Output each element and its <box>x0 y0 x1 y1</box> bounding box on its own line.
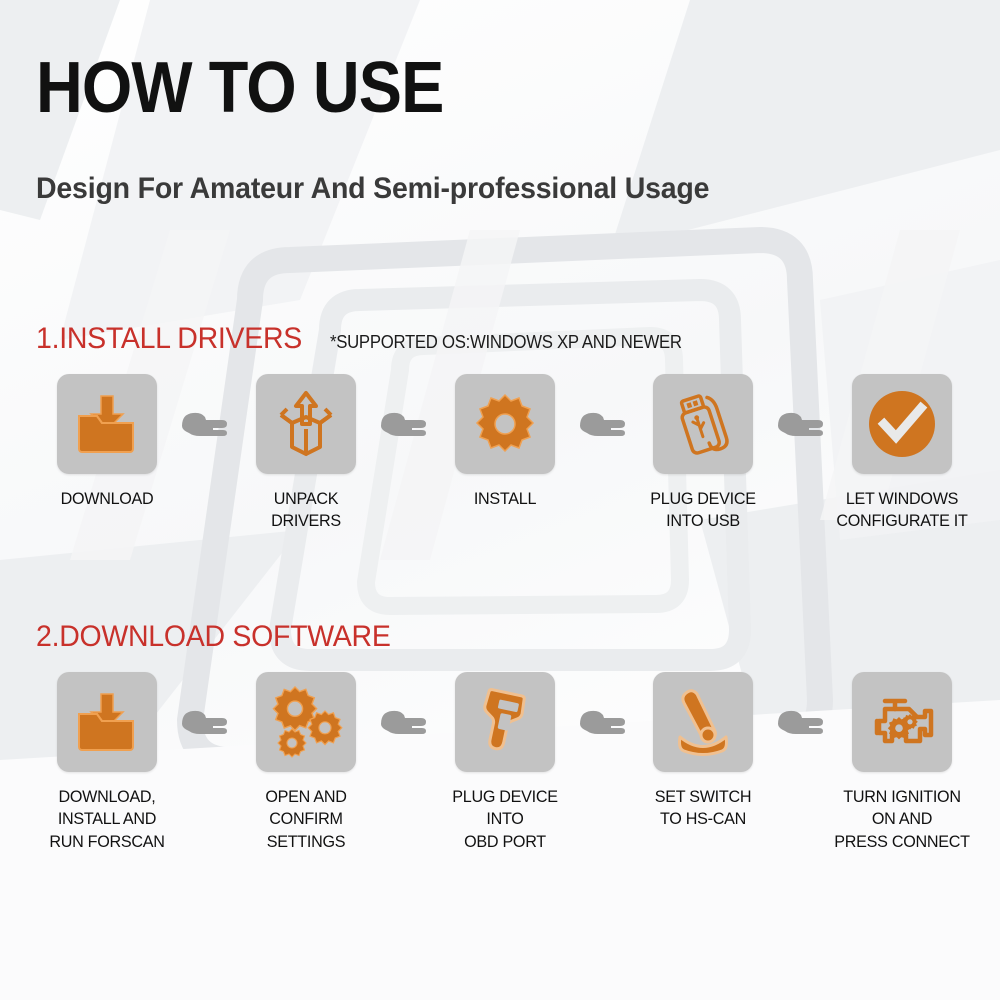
engine-check-icon <box>861 681 943 763</box>
three-gears-icon <box>265 681 347 763</box>
section-1-title: 1.INSTALL DRIVERS <box>36 322 302 356</box>
step-plug-device-usb[interactable]: PLUG DEVICE INTO USB <box>608 374 798 533</box>
gear-icon <box>474 393 536 455</box>
label-set-switch-hscan: SET SWITCH TO HS-CAN <box>613 786 794 831</box>
tile-obd[interactable] <box>455 672 555 772</box>
tile-switch[interactable] <box>653 672 753 772</box>
label-line: PLUG DEVICE <box>613 488 794 510</box>
tile-download[interactable] <box>57 374 157 474</box>
step-plug-device-obd[interactable]: PLUG DEVICE INTO OBD PORT <box>410 672 600 853</box>
label-download: DOWNLOAD <box>17 488 198 510</box>
download-folder-icon <box>71 686 143 758</box>
label-turn-ignition-connect: TURN IGNITION ON AND PRESS CONNECT <box>812 786 993 853</box>
label-line: LET WINDOWS <box>812 488 993 510</box>
label-line: SETTINGS <box>216 831 397 853</box>
label-open-confirm-settings: OPEN AND CONFIRM SETTINGS <box>216 786 397 853</box>
label-line: DRIVERS <box>216 510 397 532</box>
label-unpack-drivers: UNPACK DRIVERS <box>216 488 397 533</box>
label-line: PRESS CONNECT <box>812 831 993 853</box>
section-2-steps: DOWNLOAD, INSTALL AND RUN FORSCAN <box>0 672 1000 872</box>
section-1-steps: DOWNLOAD <box>0 374 1000 574</box>
label-line: INTO <box>415 808 596 830</box>
section-2-heading-row: 2.DOWNLOAD SOFTWARE <box>0 620 1000 664</box>
lever-switch-icon <box>664 683 742 761</box>
tile-download-forscan[interactable] <box>57 672 157 772</box>
step-set-switch-hscan[interactable]: SET SWITCH TO HS-CAN <box>608 672 798 831</box>
tile-unpack[interactable] <box>256 374 356 474</box>
tile-settings[interactable] <box>256 672 356 772</box>
checkmark-circle-icon <box>864 386 940 462</box>
tile-engine[interactable] <box>852 672 952 772</box>
step-open-confirm-settings[interactable]: OPEN AND CONFIRM SETTINGS <box>211 672 401 853</box>
download-folder-icon <box>71 388 143 460</box>
step-unpack-drivers[interactable]: UNPACK DRIVERS <box>211 374 401 533</box>
label-let-windows-configurate: LET WINDOWS CONFIGURATE IT <box>812 488 993 533</box>
usb-drive-icon <box>665 386 741 462</box>
tile-usb[interactable] <box>653 374 753 474</box>
step-install[interactable]: INSTALL <box>410 374 600 510</box>
section-1-heading-row: 1.INSTALL DRIVERS *SUPPORTED OS:WINDOWS … <box>0 322 1000 366</box>
page-header: HOW TO USE Design For Amateur And Semi-p… <box>36 52 966 206</box>
tile-install[interactable] <box>455 374 555 474</box>
obd-connector-icon <box>466 683 544 761</box>
label-line: INTO USB <box>613 510 794 532</box>
label-line: INSTALL AND <box>17 808 198 830</box>
label-download-install-forscan: DOWNLOAD, INSTALL AND RUN FORSCAN <box>17 786 198 853</box>
section-1-note: *SUPPORTED OS:WINDOWS XP AND NEWER <box>330 332 682 353</box>
step-turn-ignition-connect[interactable]: TURN IGNITION ON AND PRESS CONNECT <box>807 672 997 853</box>
label-line: DOWNLOAD, <box>17 786 198 808</box>
label-line: ON AND <box>812 808 993 830</box>
page-subtitle: Design For Amateur And Semi-professional… <box>36 172 920 206</box>
label-line: TO HS-CAN <box>613 808 794 830</box>
section-download-software: 2.DOWNLOAD SOFTWARE DOWNLOAD, INSTALL AN… <box>0 620 1000 872</box>
label-line: PLUG DEVICE <box>415 786 596 808</box>
label-line: OPEN AND <box>216 786 397 808</box>
section-install-drivers: 1.INSTALL DRIVERS *SUPPORTED OS:WINDOWS … <box>0 322 1000 574</box>
tile-check[interactable] <box>852 374 952 474</box>
label-line: INSTALL <box>415 488 596 510</box>
label-plug-device-usb: PLUG DEVICE INTO USB <box>613 488 794 533</box>
label-line: CONFIGURATE IT <box>812 510 993 532</box>
label-line: UNPACK <box>216 488 397 510</box>
label-install: INSTALL <box>415 488 596 510</box>
label-plug-device-obd: PLUG DEVICE INTO OBD PORT <box>415 786 596 853</box>
label-line: CONFIRM <box>216 808 397 830</box>
step-let-windows-configurate[interactable]: LET WINDOWS CONFIGURATE IT <box>807 374 997 533</box>
step-download-install-forscan[interactable]: DOWNLOAD, INSTALL AND RUN FORSCAN <box>12 672 202 853</box>
page-title: HOW TO USE <box>36 52 873 124</box>
label-line: DOWNLOAD <box>17 488 198 510</box>
label-line: SET SWITCH <box>613 786 794 808</box>
label-line: TURN IGNITION <box>812 786 993 808</box>
unpack-box-icon <box>269 387 343 461</box>
label-line: RUN FORSCAN <box>17 831 198 853</box>
step-download[interactable]: DOWNLOAD <box>12 374 202 510</box>
label-line: OBD PORT <box>415 831 596 853</box>
section-2-title: 2.DOWNLOAD SOFTWARE <box>36 620 391 654</box>
